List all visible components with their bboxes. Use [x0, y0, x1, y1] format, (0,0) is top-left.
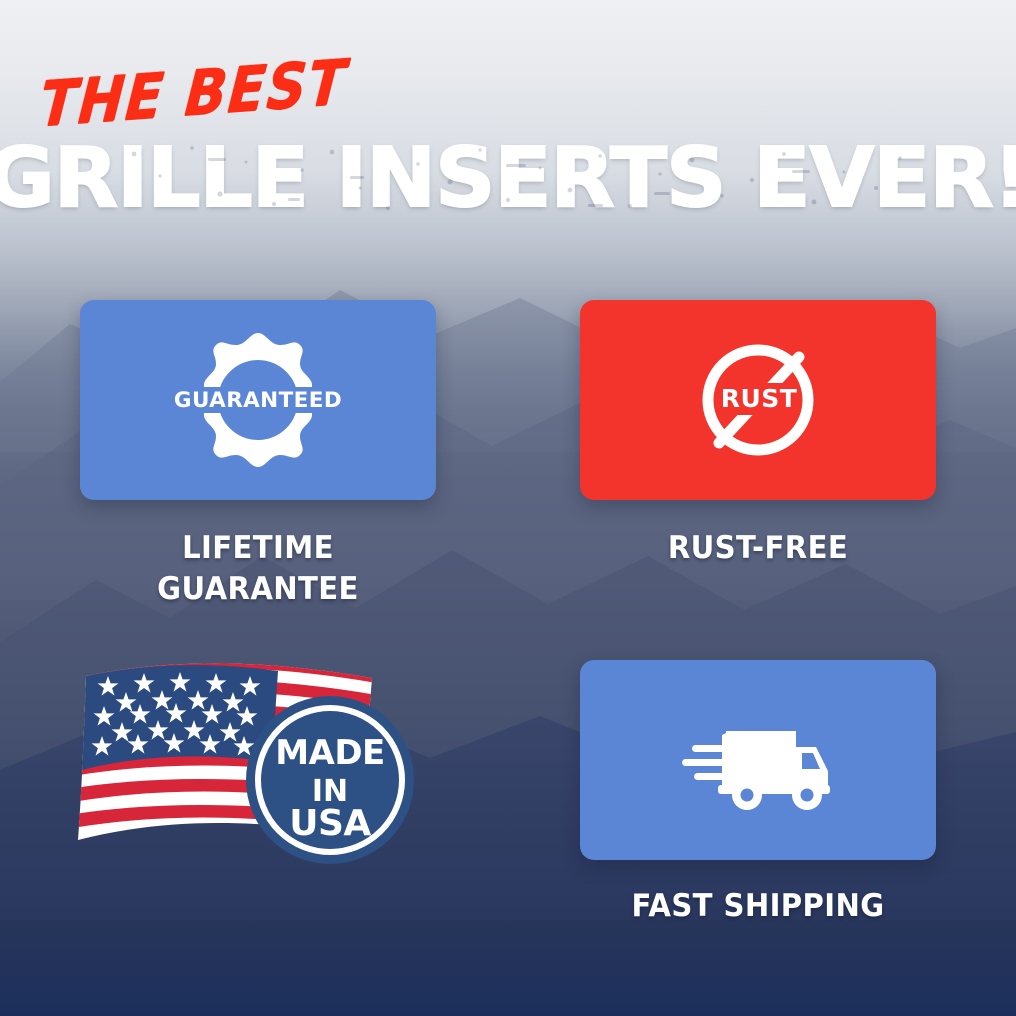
feature-rust-free[interactable]: RUST RUST-FREE	[548, 300, 968, 569]
feature-card-shipping[interactable]	[580, 660, 936, 860]
feature-caption-guarantee: LIFETIME GUARANTEE	[61, 528, 456, 610]
page-title: GRILLE INSERTS EVER!	[0, 136, 1016, 222]
feature-made-in-usa[interactable]: MADE IN USA	[48, 660, 468, 870]
guarantee-seal-label: GUARANTEED	[174, 388, 342, 413]
guarantee-seal-icon: GUARANTEED	[173, 325, 343, 475]
seal-line-made: MADE	[275, 733, 385, 773]
delivery-truck-icon	[678, 705, 838, 815]
made-in-usa-seal: MADE IN USA	[246, 696, 414, 864]
feature-card-guarantee[interactable]: GUARANTEED	[80, 300, 436, 500]
feature-fast-shipping[interactable]: FAST SHIPPING	[548, 660, 968, 927]
no-rust-icon: RUST	[683, 325, 833, 475]
promo-poster: THE BEST GRILLE INSERTS EVER!	[0, 0, 1016, 1016]
caption-line: RUST-FREE	[561, 528, 956, 569]
feature-caption-rust: RUST-FREE	[561, 528, 956, 569]
no-rust-label: RUST	[721, 384, 798, 413]
caption-line: LIFETIME	[61, 528, 456, 569]
caption-line: GUARANTEE	[61, 569, 456, 610]
seal-line-usa: USA	[289, 803, 371, 844]
caption-line: FAST SHIPPING	[561, 886, 956, 927]
feature-lifetime-guarantee[interactable]: GUARANTEED LIFETIME GUARANTEE	[48, 300, 468, 610]
feature-card-rust[interactable]: RUST	[580, 300, 936, 500]
eyebrow-text: THE BEST	[37, 51, 349, 136]
main-title-wrap: GRILLE INSERTS EVER!	[0, 136, 1016, 246]
made-in-usa-art: MADE IN USA	[72, 660, 444, 870]
made-in-usa-flag-badge-icon: MADE IN USA	[72, 660, 444, 870]
feature-caption-shipping: FAST SHIPPING	[561, 886, 956, 927]
